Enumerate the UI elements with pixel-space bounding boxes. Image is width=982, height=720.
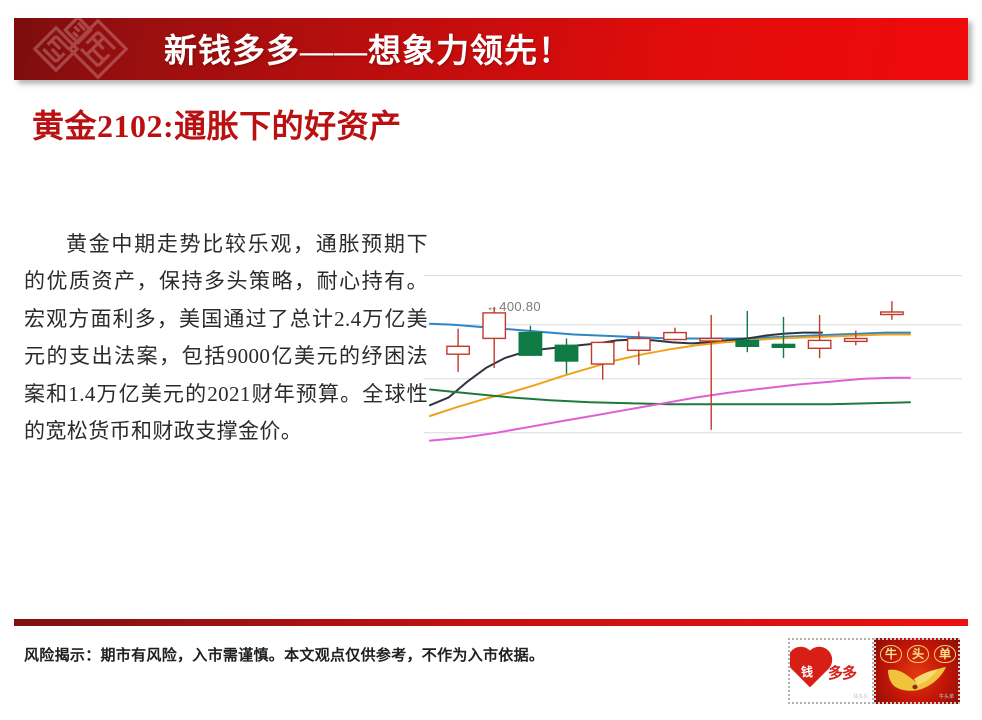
bull-char-3: 单 [934, 645, 956, 663]
candle-5 [592, 342, 614, 379]
niutoudan-stamp-logo: 牛 头 单 牛头单 [874, 638, 960, 704]
body-paragraph: 黄金中期走势比较乐观，通胀预期下的优质资产，保持多头策略，耐心持有。宏观方面利多… [24, 226, 428, 450]
footer-disclaimer: 风险揭示：期市有风险，入市需谨慎。本文观点仅供参考，不作为入市依据。 [24, 644, 544, 665]
candle-9 [736, 311, 758, 352]
bull-head-icon [886, 666, 948, 698]
ma-line-ma-magenta [430, 378, 910, 441]
chinese-knot-pattern-icon [26, 18, 146, 80]
chart-canvas [424, 250, 970, 482]
candlestick-chart: ←400.80 [424, 250, 970, 482]
footer-divider [14, 619, 968, 626]
bull-char-1: 牛 [880, 645, 902, 663]
bull-char-2: 头 [907, 645, 929, 663]
candle-1 [447, 329, 469, 372]
stamp-brand-text: 多多 [828, 662, 856, 683]
page-title: 黄金2102:通胀下的好资产 [32, 104, 432, 148]
candle-8 [700, 315, 722, 430]
stamp-heart-text: 钱 [801, 663, 813, 680]
candle-4 [555, 339, 577, 374]
price-annotation-label: ←400.80 [486, 299, 541, 314]
ma-line-ma-black [430, 333, 822, 406]
candle-7 [664, 328, 686, 341]
candle-13 [881, 301, 903, 320]
qianduoduo-stamp-logo: 钱 多多 钱多多 [788, 638, 874, 704]
header-banner: 新钱多多——想象力领先！ [14, 18, 968, 80]
stamp-corner-text: 钱多多 [853, 693, 868, 700]
bull-char-row: 牛 头 单 [880, 645, 956, 663]
logo-group: 钱 多多 钱多多 牛 头 单 牛头单 [788, 638, 960, 704]
banner-title: 新钱多多——想象力领先！ [164, 24, 572, 72]
